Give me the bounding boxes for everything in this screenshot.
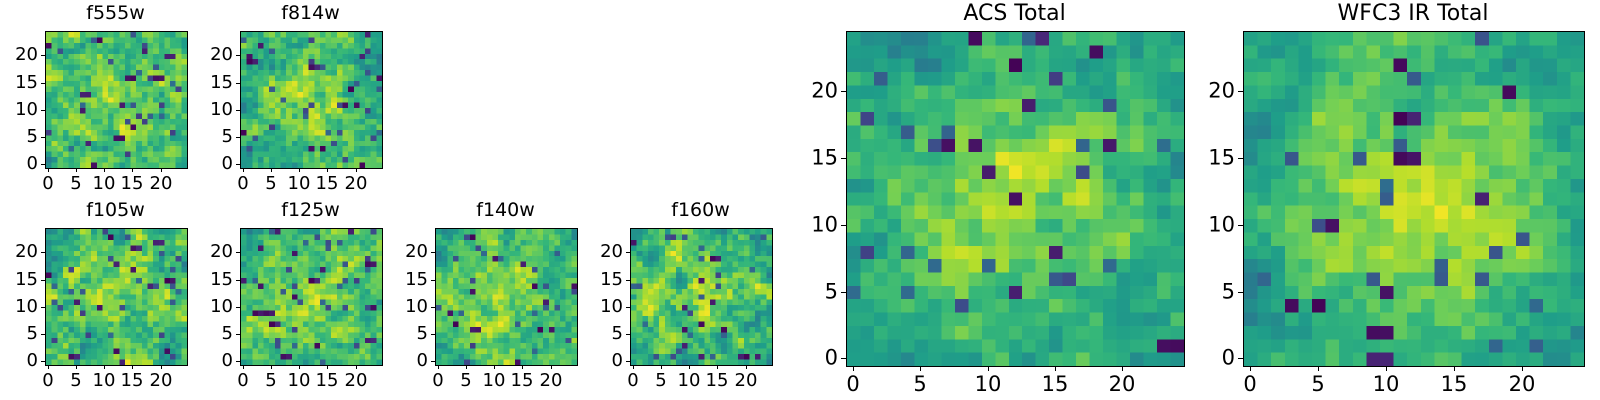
panel-f105w-ytick-mark <box>41 334 45 335</box>
panel-wfc3-ir-total-xtick-label: 10 <box>1373 374 1400 395</box>
panel-wfc3-ir-total-ytick-label: 5 <box>1183 282 1235 303</box>
panel-f105w-ytick-label: 5 <box>0 325 38 343</box>
panel-f555w-title: f555w <box>45 4 186 23</box>
panel-f814w-xtick-label: 20 <box>345 175 368 193</box>
panel-f105w-xtick-mark <box>161 365 162 369</box>
panel-f555w-ytick-mark <box>41 83 45 84</box>
panel-f105w-xtick-label: 5 <box>70 372 81 390</box>
panel-f814w-ytick-label: 5 <box>190 128 233 146</box>
panel-f125w-ytick-mark <box>236 307 240 308</box>
panel-f140w-ytick-mark <box>431 307 435 308</box>
panel-f125w-axes <box>240 228 383 366</box>
panel-acs-total-xtick-label: 5 <box>913 374 926 395</box>
panel-f160w-xtick-label: 15 <box>706 372 729 390</box>
panel-f105w-ytick-label: 20 <box>0 243 38 261</box>
heatmap-image <box>46 32 187 168</box>
panel-f555w-ytick-label: 20 <box>0 46 38 64</box>
panel-wfc3-ir-total-xtick-label: 0 <box>1243 374 1256 395</box>
panel-f555w-xtick-label: 5 <box>70 175 81 193</box>
panel-acs-total-ytick-mark <box>841 225 846 226</box>
panel-f125w-xtick-mark <box>356 365 357 369</box>
panel-f160w-xtick-mark <box>717 365 718 369</box>
panel-wfc3-ir-total-ytick-mark <box>1238 358 1243 359</box>
panel-acs-total-xtick-label: 20 <box>1109 374 1136 395</box>
panel-f125w-xtick-label: 5 <box>265 372 276 390</box>
panel-f125w: f125w0510152005101520 <box>0 0 1600 400</box>
panel-acs-total-ytick-mark <box>841 292 846 293</box>
figure-canvas: f555w0510152005101520f814w05101520051015… <box>0 0 1600 400</box>
panel-f555w: f555w0510152005101520 <box>0 0 1600 400</box>
panel-f814w-ytick-label: 0 <box>190 155 233 173</box>
panel-acs-total-ytick-label: 10 <box>786 215 838 236</box>
panel-f160w-title: f160w <box>630 201 771 220</box>
panel-f160w-ytick-label: 15 <box>580 271 623 289</box>
panel-f105w: f105w0510152005101520 <box>0 0 1600 400</box>
heatmap-image <box>1244 32 1584 366</box>
panel-acs-total-ytick-label: 15 <box>786 148 838 169</box>
panel-f160w-xtick-label: 5 <box>655 372 666 390</box>
panel-f140w-xtick-label: 20 <box>540 372 563 390</box>
panel-f160w-xtick-label: 20 <box>735 372 758 390</box>
panel-f105w-ytick-mark <box>41 280 45 281</box>
panel-f814w-xtick-mark <box>243 168 244 172</box>
panel-f140w-xtick-label: 0 <box>432 372 443 390</box>
panel-wfc3-ir-total-xtick-mark <box>1318 366 1319 371</box>
panel-f105w-xtick-mark <box>48 365 49 369</box>
panel-f160w-xtick-mark <box>689 365 690 369</box>
panel-f125w-ytick-label: 5 <box>190 325 233 343</box>
panel-f814w-xtick-label: 10 <box>288 175 311 193</box>
panel-acs-total-xtick-label: 0 <box>846 374 859 395</box>
panel-f125w-ytick-label: 20 <box>190 243 233 261</box>
panel-f814w-ytick-label: 10 <box>190 101 233 119</box>
panel-f125w-xtick-mark <box>271 365 272 369</box>
panel-f160w-xtick-label: 10 <box>678 372 701 390</box>
panel-f125w-ytick-mark <box>236 252 240 253</box>
panel-f140w-xtick-mark <box>494 365 495 369</box>
panel-f814w-ytick-label: 15 <box>190 74 233 92</box>
panel-acs-total-ytick-label: 5 <box>786 282 838 303</box>
panel-f105w-ytick-label: 10 <box>0 298 38 316</box>
panel-f555w-ytick-mark <box>41 164 45 165</box>
panel-f140w-xtick-label: 15 <box>511 372 534 390</box>
panel-f105w-xtick-label: 10 <box>93 372 116 390</box>
panel-acs-total-ytick-mark <box>841 358 846 359</box>
panel-acs-total-xtick-mark <box>988 366 989 371</box>
panel-f105w-title: f105w <box>45 201 186 220</box>
panel-f140w-xtick-label: 5 <box>460 372 471 390</box>
panel-f555w-xtick-mark <box>161 168 162 172</box>
panel-f555w-ytick-label: 0 <box>0 155 38 173</box>
panel-wfc3-ir-total-ytick-label: 0 <box>1183 348 1235 369</box>
panel-f140w-ytick-mark <box>431 280 435 281</box>
panel-f140w-xtick-mark <box>551 365 552 369</box>
panel-wfc3-ir-total-axes <box>1243 31 1585 367</box>
panel-f125w-xtick-label: 10 <box>288 372 311 390</box>
panel-f140w-axes <box>435 228 578 366</box>
panel-wfc3-ir-total-ytick-mark <box>1238 158 1243 159</box>
panel-wfc3-ir-total-xtick-mark <box>1250 366 1251 371</box>
panel-acs-total-ytick-label: 0 <box>786 348 838 369</box>
panel-f140w-title: f140w <box>435 201 576 220</box>
panel-f105w-xtick-label: 0 <box>42 372 53 390</box>
panel-f814w-axes <box>240 31 383 169</box>
panel-f555w-ytick-mark <box>41 137 45 138</box>
panel-f125w-xtick-label: 15 <box>316 372 339 390</box>
panel-f140w-ytick-label: 0 <box>385 352 428 370</box>
panel-f814w-xtick-mark <box>356 168 357 172</box>
panel-wfc3-ir-total-xtick-label: 20 <box>1509 374 1536 395</box>
heatmap-image <box>436 229 577 365</box>
panel-f160w-ytick-label: 10 <box>580 298 623 316</box>
panel-f814w-xtick-label: 5 <box>265 175 276 193</box>
panel-f125w-ytick-mark <box>236 334 240 335</box>
panel-wfc3-ir-total-ytick-mark <box>1238 91 1243 92</box>
panel-acs-total-axes <box>846 31 1185 367</box>
heatmap-image <box>241 32 382 168</box>
panel-acs-total-title: ACS Total <box>846 3 1183 25</box>
heatmap-image <box>46 229 187 365</box>
panel-f555w-xtick-mark <box>76 168 77 172</box>
panel-f160w-xtick-mark <box>633 365 634 369</box>
panel-f125w-xtick-mark <box>327 365 328 369</box>
heatmap-image <box>241 229 382 365</box>
panel-f140w-xtick-label: 10 <box>483 372 506 390</box>
panel-f140w: f140w0510152005101520 <box>0 0 1600 400</box>
panel-f125w-xtick-mark <box>299 365 300 369</box>
panel-f140w-ytick-label: 10 <box>385 298 428 316</box>
panel-f105w-ytick-mark <box>41 361 45 362</box>
heatmap-image <box>847 32 1184 366</box>
panel-f105w-xtick-label: 20 <box>150 372 173 390</box>
panel-f555w-xtick-mark <box>48 168 49 172</box>
panel-f814w-ytick-mark <box>236 137 240 138</box>
panel-f125w-xtick-label: 20 <box>345 372 368 390</box>
panel-acs-total-xtick-label: 15 <box>1042 374 1069 395</box>
panel-f160w-axes <box>630 228 773 366</box>
panel-f160w-xtick-mark <box>746 365 747 369</box>
panel-acs-total-ytick-mark <box>841 91 846 92</box>
panel-f555w-xtick-label: 10 <box>93 175 116 193</box>
panel-f105w-xtick-mark <box>132 365 133 369</box>
panel-f160w-ytick-label: 5 <box>580 325 623 343</box>
panel-f140w-ytick-label: 5 <box>385 325 428 343</box>
panel-f140w-ytick-mark <box>431 334 435 335</box>
panel-f814w-title: f814w <box>240 4 381 23</box>
panel-wfc3-ir-total-xtick-mark <box>1522 366 1523 371</box>
panel-f125w-ytick-label: 0 <box>190 352 233 370</box>
panel-acs-total-xtick-mark <box>1122 366 1123 371</box>
panel-f814w-ytick-label: 20 <box>190 46 233 64</box>
panel-f555w-xtick-mark <box>132 168 133 172</box>
panel-f140w-ytick-mark <box>431 361 435 362</box>
panel-f555w-xtick-label: 20 <box>150 175 173 193</box>
panel-f814w-ytick-mark <box>236 110 240 111</box>
panel-f140w-xtick-mark <box>466 365 467 369</box>
panel-f105w-axes <box>45 228 188 366</box>
panel-f555w-axes <box>45 31 188 169</box>
panel-acs-total: ACS Total0510152005101520 <box>0 0 1600 400</box>
panel-f555w-xtick-label: 0 <box>42 175 53 193</box>
panel-f555w-xtick-mark <box>104 168 105 172</box>
panel-f140w-ytick-label: 15 <box>385 271 428 289</box>
panel-wfc3-ir-total-xtick-mark <box>1454 366 1455 371</box>
panel-f125w-ytick-label: 15 <box>190 271 233 289</box>
panel-acs-total-ytick-label: 20 <box>786 81 838 102</box>
panel-wfc3-ir-total-title: WFC3 IR Total <box>1243 3 1583 25</box>
panel-f125w-xtick-mark <box>243 365 244 369</box>
panel-f160w-ytick-mark <box>626 280 630 281</box>
panel-f160w-ytick-mark <box>626 361 630 362</box>
panel-f105w-ytick-label: 15 <box>0 271 38 289</box>
panel-f105w-ytick-label: 0 <box>0 352 38 370</box>
panel-f814w-xtick-mark <box>271 168 272 172</box>
panel-f160w-xtick-label: 0 <box>627 372 638 390</box>
panel-acs-total-xtick-label: 10 <box>975 374 1002 395</box>
panel-f814w-ytick-mark <box>236 164 240 165</box>
panel-f555w-ytick-label: 5 <box>0 128 38 146</box>
panel-f105w-xtick-mark <box>76 365 77 369</box>
panel-acs-total-ytick-mark <box>841 158 846 159</box>
panel-acs-total-xtick-mark <box>853 366 854 371</box>
panel-f125w-ytick-label: 10 <box>190 298 233 316</box>
panel-wfc3-ir-total-ytick-mark <box>1238 292 1243 293</box>
panel-f125w-ytick-mark <box>236 361 240 362</box>
panel-f555w-ytick-label: 15 <box>0 74 38 92</box>
panel-acs-total-xtick-mark <box>1055 366 1056 371</box>
panel-f105w-ytick-mark <box>41 252 45 253</box>
panel-f160w-ytick-mark <box>626 334 630 335</box>
panel-wfc3-ir-total-xtick-label: 15 <box>1441 374 1468 395</box>
panel-f814w-xtick-label: 0 <box>237 175 248 193</box>
panel-f555w-xtick-label: 15 <box>121 175 144 193</box>
panel-f160w-ytick-label: 20 <box>580 243 623 261</box>
panel-f555w-ytick-mark <box>41 55 45 56</box>
panel-f105w-xtick-label: 15 <box>121 372 144 390</box>
panel-f555w-ytick-label: 10 <box>0 101 38 119</box>
heatmap-image <box>631 229 772 365</box>
panel-f814w-xtick-mark <box>299 168 300 172</box>
panel-f125w-title: f125w <box>240 201 381 220</box>
panel-f140w-ytick-mark <box>431 252 435 253</box>
panel-f814w-xtick-mark <box>327 168 328 172</box>
panel-f140w-xtick-mark <box>522 365 523 369</box>
panel-wfc3-ir-total-ytick-label: 15 <box>1183 148 1235 169</box>
panel-acs-total-xtick-mark <box>920 366 921 371</box>
panel-f160w: f160w0510152005101520 <box>0 0 1600 400</box>
panel-f814w-xtick-label: 15 <box>316 175 339 193</box>
panel-wfc3-ir-total-ytick-label: 10 <box>1183 215 1235 236</box>
panel-wfc3-ir-total-ytick-mark <box>1238 225 1243 226</box>
panel-f140w-xtick-mark <box>438 365 439 369</box>
panel-f125w-xtick-label: 0 <box>237 372 248 390</box>
panel-f814w-ytick-mark <box>236 83 240 84</box>
panel-wfc3-ir-total-ytick-label: 20 <box>1183 81 1235 102</box>
panel-f160w-ytick-mark <box>626 252 630 253</box>
panel-f160w-ytick-mark <box>626 307 630 308</box>
panel-wfc3-ir-total: WFC3 IR Total0510152005101520 <box>0 0 1600 400</box>
panel-f814w: f814w0510152005101520 <box>0 0 1600 400</box>
panel-wfc3-ir-total-xtick-label: 5 <box>1311 374 1324 395</box>
panel-f160w-xtick-mark <box>661 365 662 369</box>
panel-f555w-ytick-mark <box>41 110 45 111</box>
panel-f814w-ytick-mark <box>236 55 240 56</box>
panel-f140w-ytick-label: 20 <box>385 243 428 261</box>
panel-f125w-ytick-mark <box>236 280 240 281</box>
panel-f160w-ytick-label: 0 <box>580 352 623 370</box>
panel-wfc3-ir-total-xtick-mark <box>1386 366 1387 371</box>
panel-f105w-xtick-mark <box>104 365 105 369</box>
panel-f105w-ytick-mark <box>41 307 45 308</box>
